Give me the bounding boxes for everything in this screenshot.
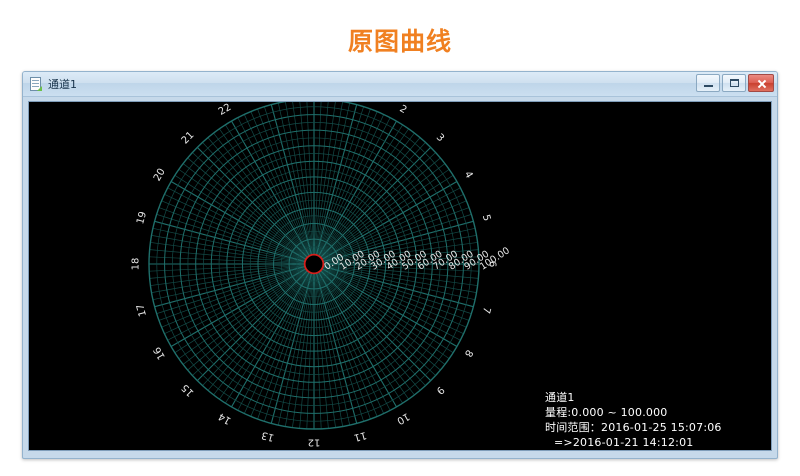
svg-text:10: 10 [395, 410, 412, 426]
close-icon [757, 79, 766, 88]
chart-legend: 通道1 量程:0.000 ~ 100.000 时间范围：2016-01-25 1… [545, 390, 722, 450]
svg-text:5: 5 [480, 213, 492, 222]
legend-time-range-end: =>2016-01-21 14:12:01 [545, 435, 722, 450]
svg-text:4: 4 [462, 169, 475, 180]
svg-text:7: 7 [480, 306, 492, 315]
svg-text:8: 8 [462, 347, 475, 358]
svg-text:13: 13 [260, 429, 275, 443]
svg-text:15: 15 [180, 381, 197, 398]
close-button[interactable] [748, 74, 774, 92]
svg-text:17: 17 [135, 302, 149, 317]
svg-text:14: 14 [217, 410, 234, 426]
document-icon [30, 77, 43, 92]
channel-window: 通道1 012345678910111213141516171819202122… [22, 71, 778, 459]
svg-text:18: 18 [131, 258, 142, 271]
svg-text:11: 11 [352, 429, 367, 443]
screenshot-root: 原图曲线 通道1 [0, 0, 800, 476]
minimize-button[interactable] [696, 74, 720, 92]
plot-canvas[interactable]: 01234567891011121314151617181920212223 0… [28, 101, 772, 451]
window-titlebar[interactable]: 通道1 [23, 72, 777, 97]
legend-channel: 通道1 [545, 390, 722, 405]
window-title: 通道1 [48, 76, 77, 92]
minimize-icon [704, 85, 713, 87]
window-controls [696, 74, 774, 92]
maximize-button[interactable] [722, 74, 746, 92]
svg-text:12: 12 [308, 437, 321, 448]
legend-time-range: 时间范围：2016-01-25 15:07:06 [545, 420, 722, 435]
svg-text:16: 16 [152, 345, 168, 362]
svg-text:22: 22 [217, 102, 234, 118]
legend-range: 量程:0.000 ~ 100.000 [545, 405, 722, 420]
maximize-icon [730, 79, 739, 87]
svg-text:9: 9 [434, 384, 446, 396]
svg-text:20: 20 [152, 167, 168, 184]
page-title: 原图曲线 [0, 22, 800, 58]
series-curve [305, 255, 324, 274]
svg-text:2: 2 [397, 103, 408, 116]
svg-text:19: 19 [135, 210, 149, 225]
svg-text:3: 3 [434, 132, 446, 144]
svg-text:21: 21 [180, 130, 197, 147]
